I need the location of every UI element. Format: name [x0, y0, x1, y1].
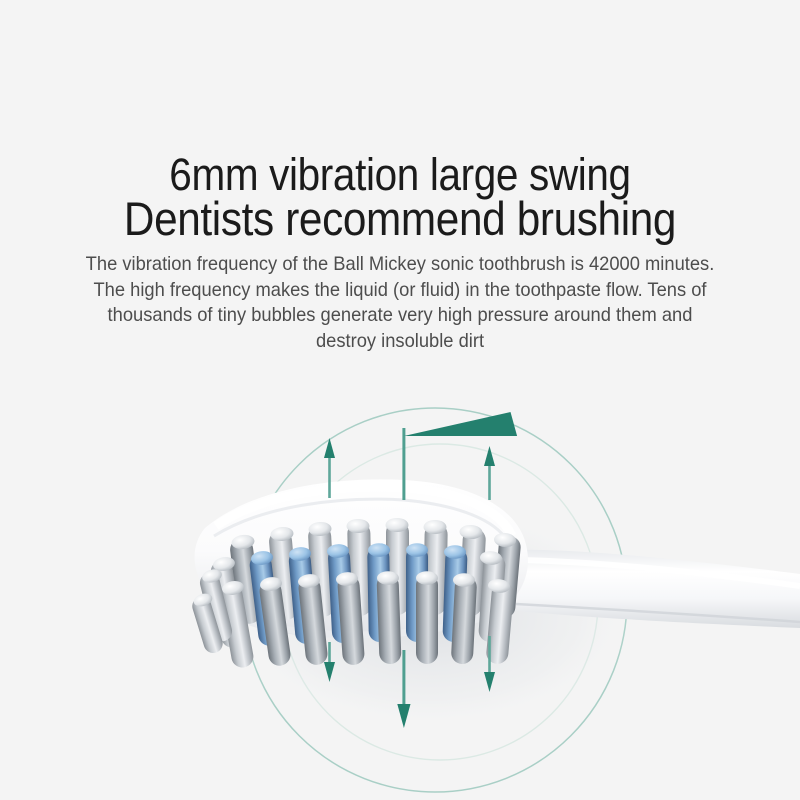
toothbrush [190, 479, 800, 669]
headline-line-2: Dentists recommend brushing [40, 196, 760, 241]
body-line-2: The high frequency makes the liquid (or … [24, 278, 776, 304]
bristle [376, 571, 401, 664]
body-line-4: destroy insoluble dirt [24, 329, 776, 355]
body-copy: The vibration frequency of the Ball Mick… [24, 252, 776, 354]
body-line-1: The vibration frequency of the Ball Mick… [24, 252, 776, 278]
headline-line-1: 6mm vibration large swing [40, 152, 760, 197]
body-line-3: thousands of tiny bubbles generate very … [24, 303, 776, 329]
banner-canvas: 6mm vibration large swing Dentists recom… [0, 0, 800, 800]
bristle [416, 571, 438, 664]
toothbrush-illustration [0, 360, 800, 800]
arrow-up-icon [484, 446, 495, 500]
